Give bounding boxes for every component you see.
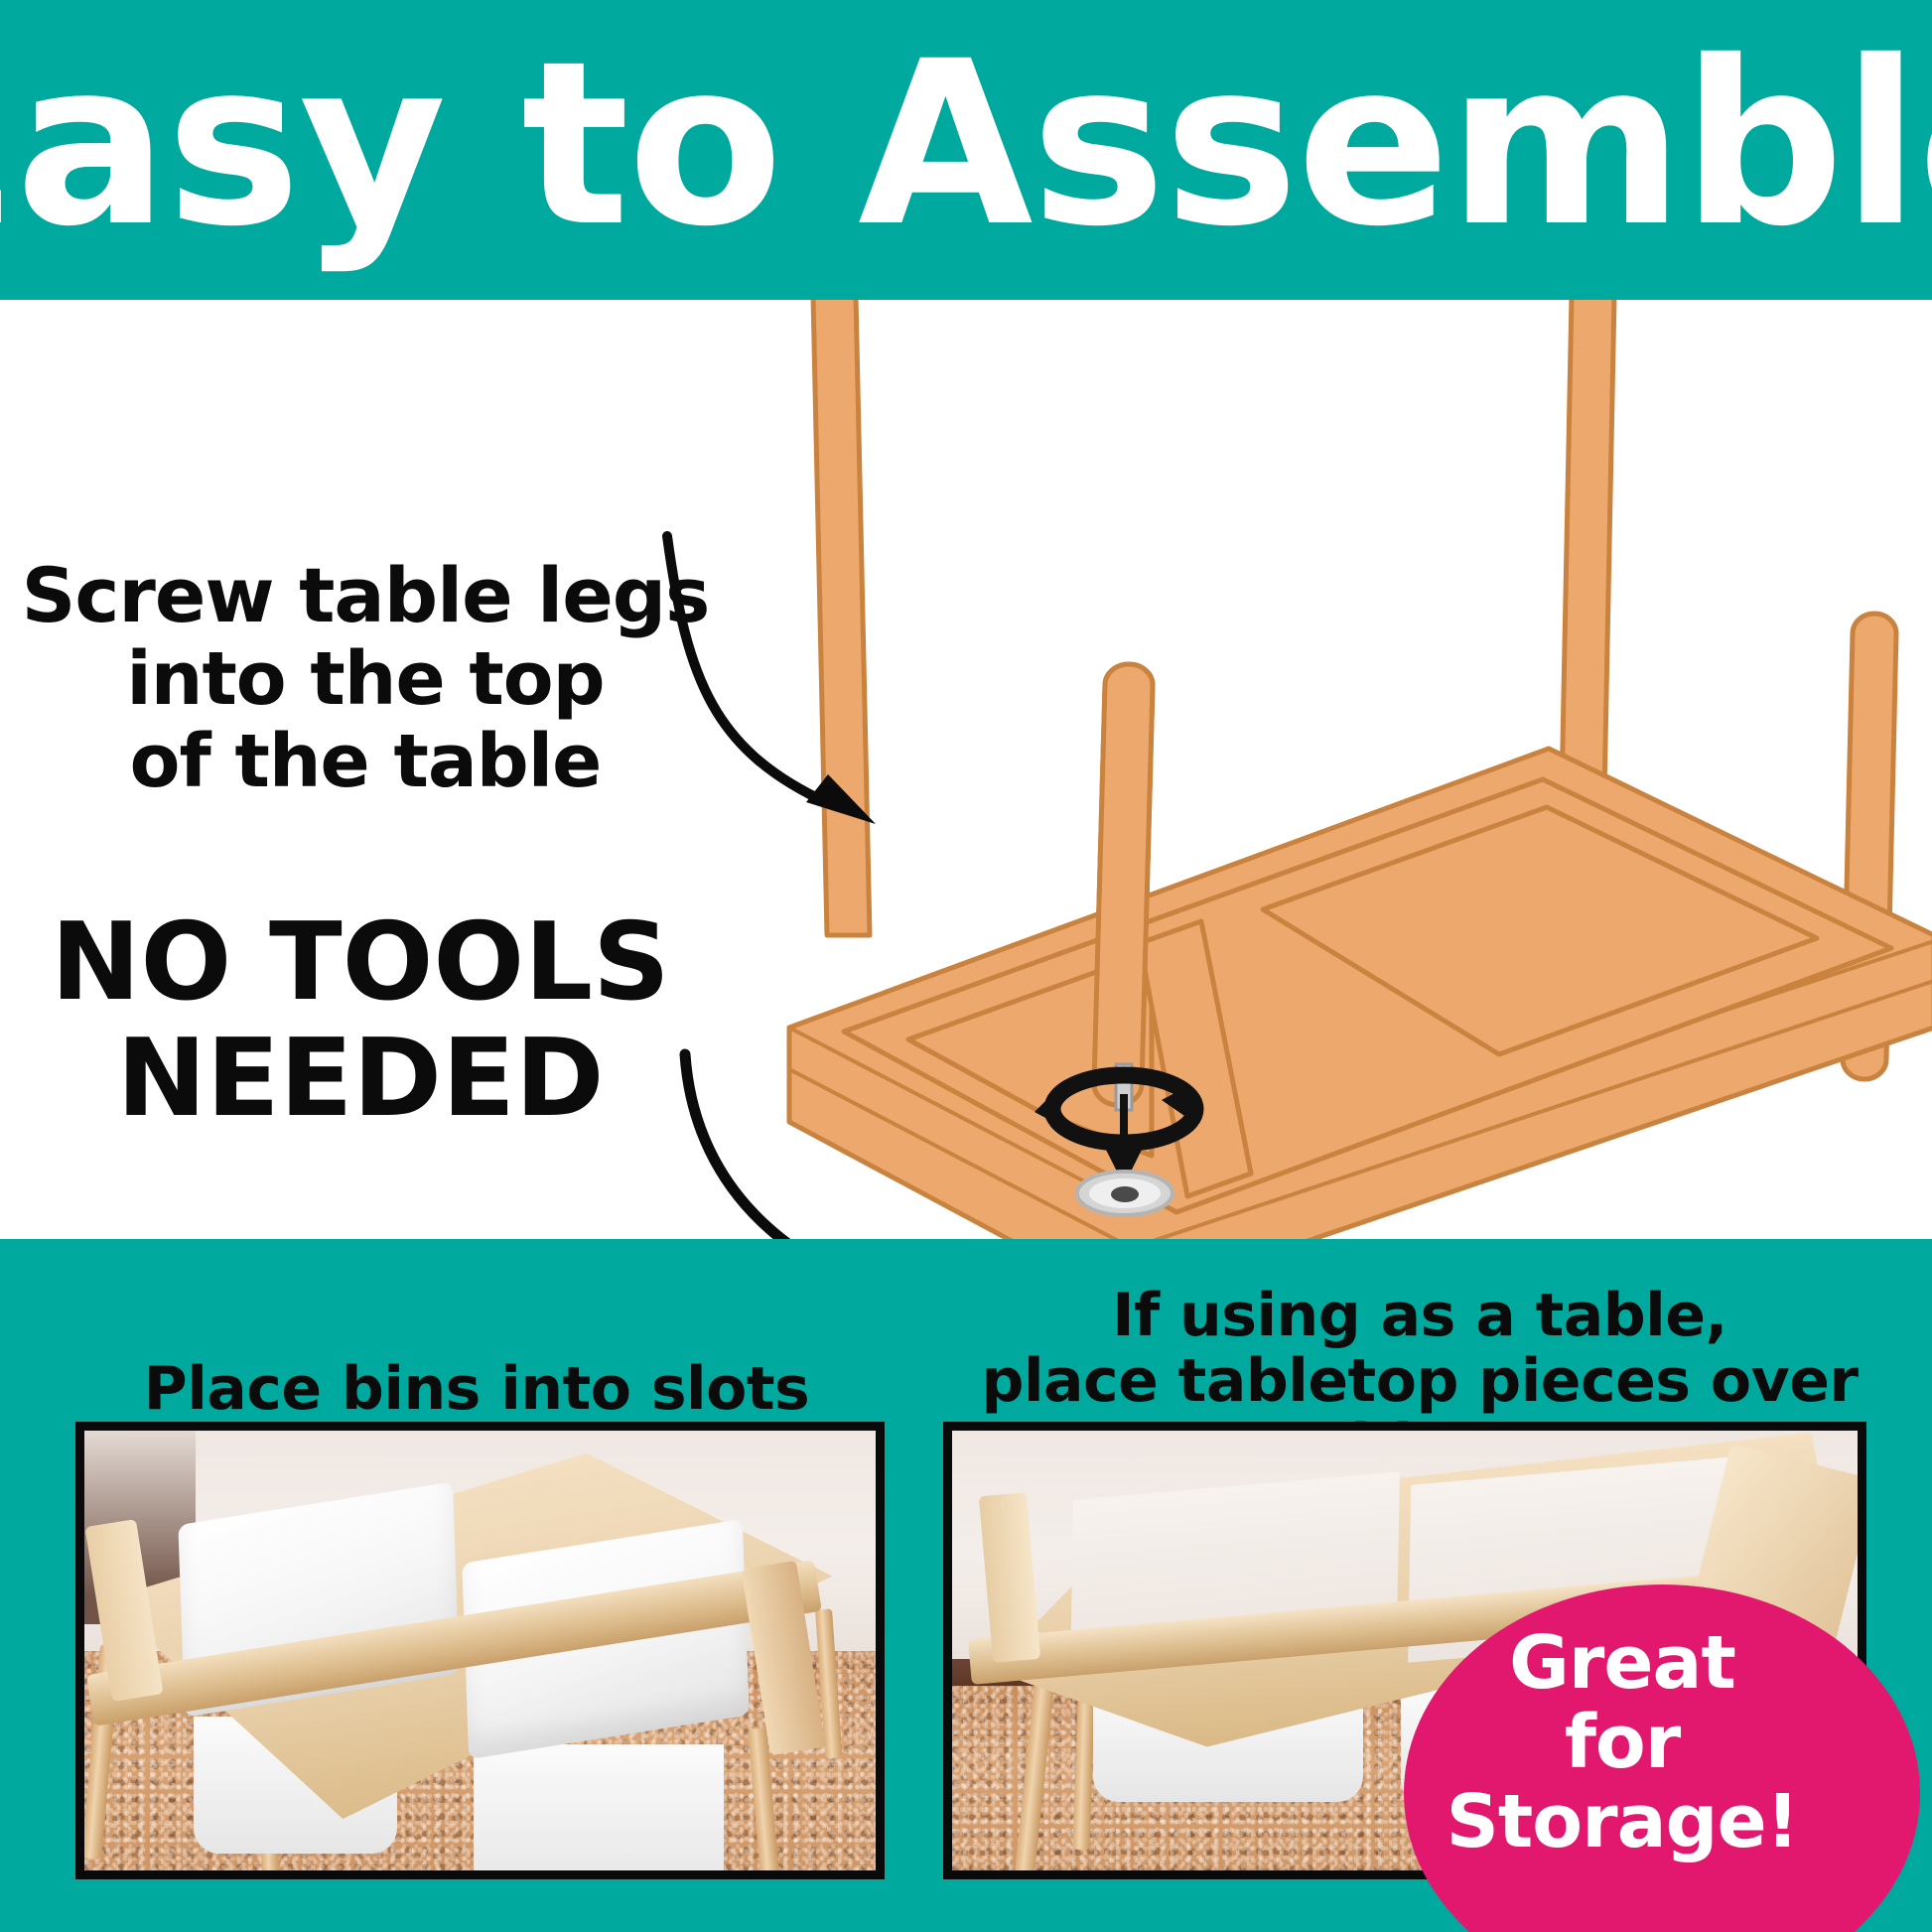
page-title: Easy to Assemble	[0, 31, 1932, 257]
poster-root: Easy to Assemble .wf{fill:#eda86e;stroke…	[0, 0, 1932, 1932]
left-photo-caption: Place bins into slots	[60, 1356, 894, 1422]
instruction-line-3: of the table	[18, 721, 713, 804]
header-band: Easy to Assemble	[0, 0, 1932, 300]
no-tools-line-2: NEEDED	[28, 1022, 693, 1138]
instruction-line-2: into the top	[18, 638, 713, 722]
no-tools-text: NO TOOLS NEEDED	[28, 905, 693, 1137]
instruction-line-1: Screw table legs	[18, 553, 713, 638]
photo-bins-into-slots	[75, 1422, 885, 1879]
screw-plate-icon	[1077, 1172, 1173, 1215]
bottom-section: Place bins into slots If using as a tabl…	[0, 1239, 1932, 1932]
badge-line-1: Great	[1404, 1624, 1841, 1704]
badge-text: Great for Storage!	[1404, 1624, 1841, 1863]
instruction-text: Screw table legs into the top of the tab…	[18, 553, 713, 804]
assembly-panel: .wf{fill:#eda86e;stroke:#c9833f;stroke-w…	[0, 300, 1932, 1239]
badge-line-3: Storage!	[1404, 1783, 1841, 1863]
table-leg-front-center-overlay	[1094, 664, 1153, 1105]
photo-left-scene	[84, 1431, 876, 1870]
no-tools-line-1: NO TOOLS	[28, 905, 693, 1022]
badge-line-2: for	[1404, 1704, 1841, 1783]
right-caption-line-1: If using as a table,	[1112, 1281, 1727, 1350]
table-leg-back-left	[813, 300, 870, 935]
